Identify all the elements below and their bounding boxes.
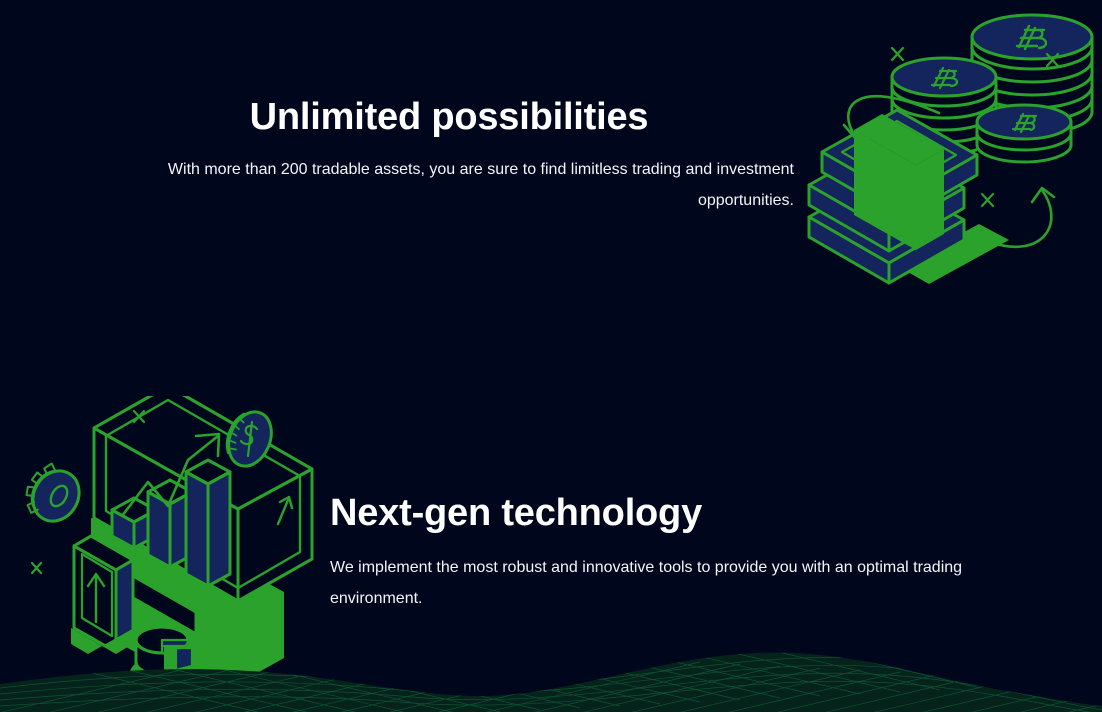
section-two-text-block: Next-gen technology We implement the mos…	[330, 488, 1020, 614]
sparkle	[982, 194, 993, 206]
section-one-body: With more than 200 tradable assets, you …	[104, 154, 794, 216]
monitor-trading-chart-illustration	[16, 396, 326, 696]
section-unlimited-possibilities: Unlimited possibilities With more than 2…	[0, 0, 1102, 360]
sparkle	[892, 48, 903, 60]
landing-page: Unlimited possibilities With more than 2…	[0, 0, 1102, 712]
sparkle	[32, 563, 41, 573]
section-next-gen-technology: Next-gen technology We implement the mos…	[0, 360, 1102, 712]
section-two-title: Next-gen technology	[330, 488, 1020, 538]
bitcoin-coins-and-cash-stack-illustration	[804, 2, 1094, 302]
section-one-text-block: Unlimited possibilities With more than 2…	[104, 92, 794, 216]
page-title: Unlimited possibilities	[104, 92, 794, 142]
smartphone	[71, 536, 134, 654]
section-two-body: We implement the most robust and innovat…	[330, 552, 1020, 614]
bitcoin-coin	[976, 105, 1073, 187]
gear-cog	[17, 459, 88, 530]
